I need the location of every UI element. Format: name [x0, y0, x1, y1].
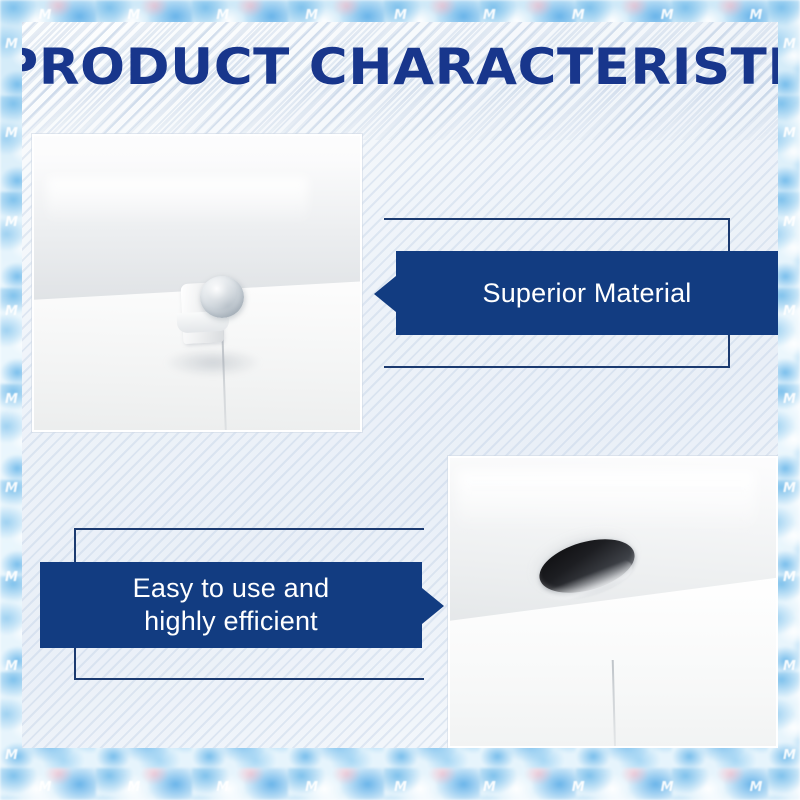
infographic-canvas: M M M M M M M M M M M M M M M M M M M M … [0, 0, 800, 800]
feature-label-text-line2: highly efficient [133, 605, 330, 638]
callout-pointer-left-icon [374, 276, 396, 312]
product-knob-closeup [32, 134, 362, 432]
feature-label-text: Superior Material [483, 277, 692, 310]
photo1-knob-dome [200, 276, 244, 318]
feature-label-text-line1: Easy to use and [133, 572, 330, 605]
content-panel: PRODUCT CHARACTERISTICS Superior Materia… [22, 22, 778, 748]
feature-callout-easy-to-use: Easy to use and highly efficient [40, 528, 452, 682]
photo1-highlight [47, 177, 308, 224]
feature-label-chip: Easy to use and highly efficient [40, 562, 422, 648]
callout-pointer-right-icon [422, 588, 444, 624]
photo2-highlight [457, 470, 757, 533]
feature-callout-superior-material: Superior Material [366, 218, 778, 370]
photo1-knob-shadow [164, 348, 262, 377]
product-handle-closeup [448, 456, 778, 748]
feature-label-chip: Superior Material [396, 251, 778, 335]
page-title: PRODUCT CHARACTERISTICS [22, 38, 778, 96]
